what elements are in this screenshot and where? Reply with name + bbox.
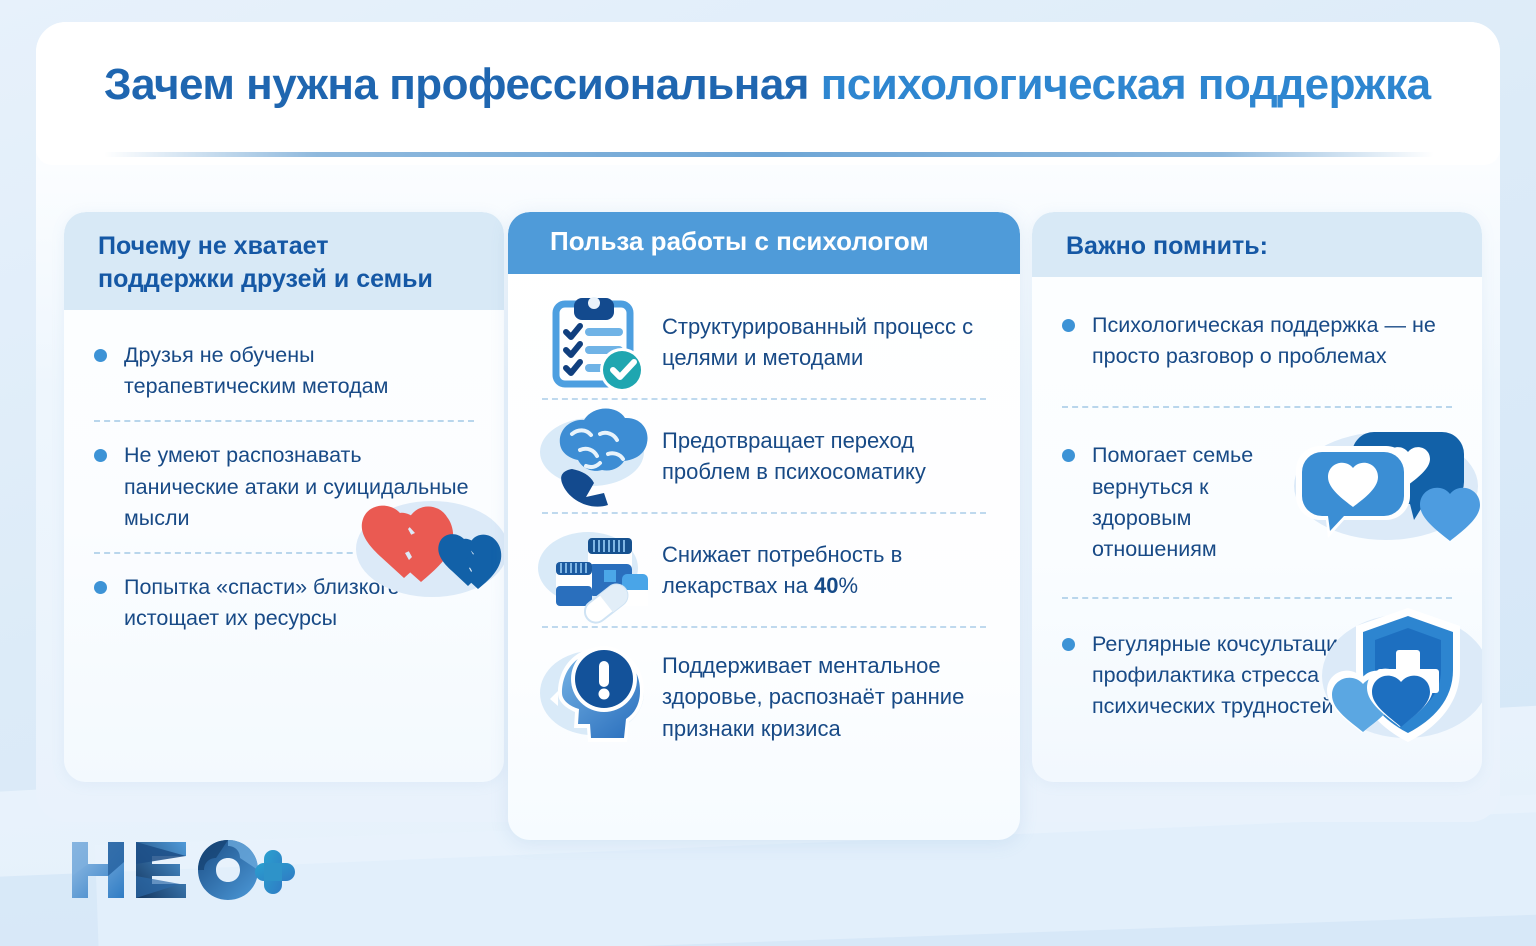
- list-item-label: Поддерживает ментальное здоровье, распоз…: [654, 650, 994, 744]
- broken-hearts-icon: [354, 487, 504, 607]
- list-item: Друзья не обучены терапевтическим метода…: [64, 340, 504, 402]
- list-item: Структурированный процесс с целями и мет…: [508, 290, 1020, 394]
- list-item-label: Предотвращает переход проблем в психосом…: [654, 425, 994, 487]
- list-item: Предотвращает переход проблем в психосом…: [508, 404, 1020, 508]
- brain-icon: [536, 404, 654, 508]
- bullet-dot-icon: [1062, 319, 1075, 332]
- list-item-label: Снижает потребность в лекарствах на 40%: [654, 539, 994, 601]
- head-alert-icon: [536, 635, 654, 759]
- infographic-page: Зачем нужна профессиональная психологиче…: [0, 0, 1536, 946]
- pills-bottles-icon: [536, 518, 654, 622]
- list-item-label: Психологическая поддержка — не просто ра…: [1092, 313, 1436, 368]
- speech-bubble-hearts-icon: [1282, 424, 1482, 559]
- divider: [542, 512, 986, 514]
- bullet-dot-icon: [1062, 638, 1075, 651]
- page-title-light: психологическая поддержка: [809, 60, 1431, 109]
- clipboard-checklist-icon: [536, 290, 654, 394]
- pills-highlight-value: 40: [814, 573, 838, 598]
- page-title-bold: Зачем нужна профессиональная: [104, 60, 809, 109]
- divider: [1062, 406, 1452, 408]
- right-card-header: Важно помнить:: [1032, 212, 1482, 277]
- page-title: Зачем нужна профессиональная психологиче…: [104, 60, 1484, 110]
- list-item: Поддерживает ментальное здоровье, распоз…: [508, 632, 1020, 762]
- title-underline: [104, 152, 1434, 157]
- list-item-label: Структурированный процесс с целями и мет…: [654, 311, 994, 373]
- divider: [1062, 597, 1452, 599]
- divider: [94, 420, 474, 422]
- bullet-dot-icon: [94, 449, 107, 462]
- bullet-dot-icon: [94, 349, 107, 362]
- list-item-label: Друзья не обучены терапевтическим метода…: [124, 343, 388, 398]
- pills-text-after: %: [839, 573, 859, 598]
- list-item: Психологическая поддержка — не просто ра…: [1032, 310, 1482, 372]
- middle-card-header: Польза работы с психологом: [508, 212, 1020, 274]
- middle-benefit-list: Структурированный процесс с целями и мет…: [508, 290, 1020, 762]
- shield-cross-hearts-icon: [1312, 600, 1482, 755]
- divider: [542, 626, 986, 628]
- list-item: Снижает потребность в лекарствах на 40%: [508, 518, 1020, 622]
- left-card-header: Почему не хватает поддержки друзей и сем…: [64, 212, 504, 310]
- pills-text-before: Снижает потребность в лекарствах на: [662, 542, 902, 598]
- card-why-friends-not-enough: Почему не хватает поддержки друзей и сем…: [64, 212, 504, 782]
- card-benefits-of-psychologist: Польза работы с психологом: [508, 212, 1020, 840]
- brand-logo: [68, 836, 298, 906]
- bullet-dot-icon: [94, 581, 107, 594]
- list-item-label: Помогает семье вернуться к здоровым отно…: [1092, 443, 1253, 561]
- bullet-dot-icon: [1062, 449, 1075, 462]
- divider: [542, 398, 986, 400]
- card-important-to-remember: Важно помнить: Психологическая поддержка…: [1032, 212, 1482, 782]
